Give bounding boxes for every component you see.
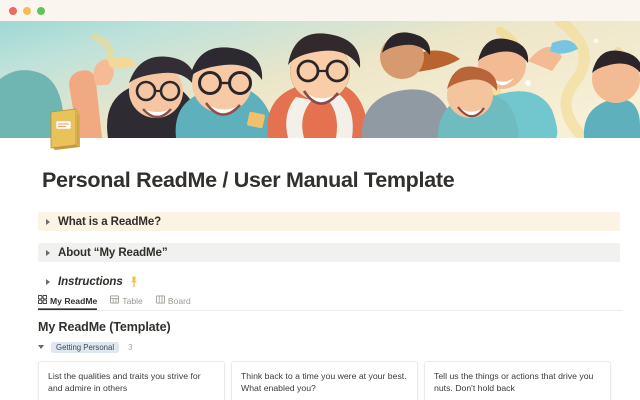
minimize-button[interactable] <box>23 7 31 15</box>
chevron-right-icon[interactable] <box>46 219 50 225</box>
tab-table[interactable]: Table <box>110 292 143 310</box>
chevron-down-icon[interactable] <box>38 345 44 349</box>
table-icon <box>110 295 119 306</box>
card-text: List the qualities and traits you strive… <box>48 370 215 395</box>
tab-label: Table <box>122 296 143 306</box>
tab-board[interactable]: Board <box>156 292 191 310</box>
card-text: Think back to a time you were at your be… <box>241 370 408 395</box>
toggle-about-my-readme[interactable]: About “My ReadMe” <box>38 243 620 262</box>
card-gallery: List the qualities and traits you strive… <box>38 361 623 400</box>
tab-my-readme[interactable]: My ReadMe <box>38 292 97 310</box>
close-button[interactable] <box>9 7 17 15</box>
window-titlebar <box>0 0 640 21</box>
maximize-button[interactable] <box>37 7 45 15</box>
toggle-label: Instructions <box>58 276 123 288</box>
toggle-what-is-a-readme[interactable]: What is a ReadMe? <box>38 212 620 231</box>
toggle-label: About “My ReadMe” <box>58 247 167 259</box>
chevron-right-icon[interactable] <box>46 250 50 256</box>
board-icon <box>156 295 165 306</box>
app-window: Personal ReadMe / User Manual Template W… <box>0 0 640 400</box>
toggle-block-list: What is a ReadMe? About “My ReadMe” Inst… <box>38 212 620 291</box>
database-title: My ReadMe (Template) <box>38 320 623 334</box>
card-item[interactable]: Tell us the things or actions that drive… <box>424 361 611 400</box>
page-title: Personal ReadMe / User Manual Template <box>42 168 454 193</box>
page-body: Personal ReadMe / User Manual Template W… <box>0 138 640 400</box>
card-item[interactable]: List the qualities and traits you strive… <box>38 361 225 400</box>
toggle-label: What is a ReadMe? <box>58 216 161 228</box>
cover-image[interactable] <box>0 21 640 138</box>
card-text: Tell us the things or actions that drive… <box>434 370 601 395</box>
group-chip: Getting Personal <box>51 342 119 353</box>
chevron-right-icon[interactable] <box>46 279 50 285</box>
pushpin-icon <box>129 276 139 288</box>
toggle-instructions[interactable]: Instructions <box>38 272 620 291</box>
group-count: 3 <box>128 343 132 352</box>
gallery-icon <box>38 295 47 306</box>
card-item[interactable]: Think back to a time you were at your be… <box>231 361 418 400</box>
inline-database: My ReadMe Table <box>38 293 623 400</box>
tab-label: Board <box>168 296 191 306</box>
database-view-tabs: My ReadMe Table <box>38 293 623 311</box>
group-header-getting-personal[interactable]: Getting Personal 3 <box>38 341 623 353</box>
notebook-icon[interactable] <box>42 107 88 153</box>
tab-label: My ReadMe <box>50 296 97 306</box>
